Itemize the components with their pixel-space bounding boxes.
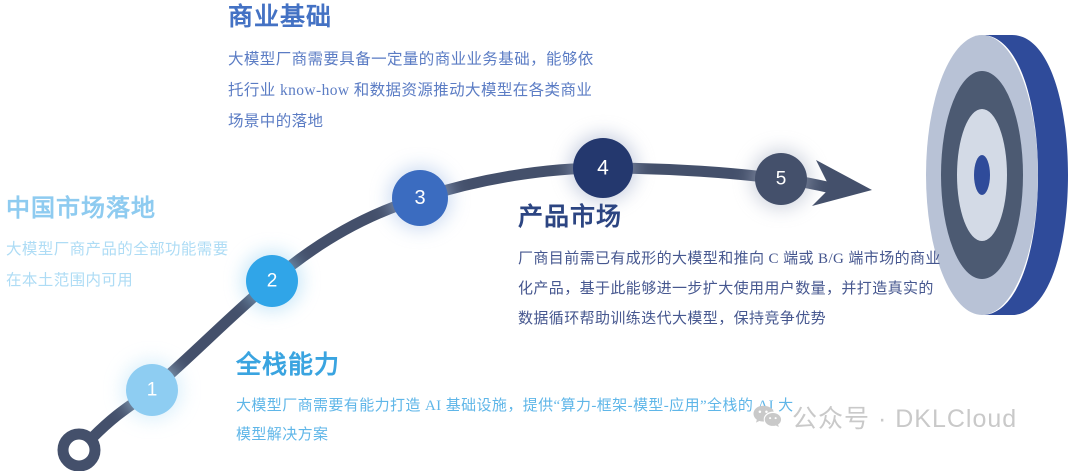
journey-start-marker <box>63 434 95 466</box>
watermark: 公众号 · DKLCloud <box>752 399 1017 435</box>
block-fullstack-capability-body: 大模型厂商需要有能力打造 AI 基础设施，提供“算力-框架-模型-应用”全栈的 … <box>236 392 796 451</box>
journey-node-2-label: 2 <box>267 271 278 292</box>
block-product-market-heading: 产品市场 <box>518 204 948 232</box>
block-product-market-body: 厂商目前需已有成形的大模型和推向 C 端或 B/G 端市场的商业化产品，基于此能… <box>518 244 948 334</box>
journey-node-5-label: 5 <box>776 169 787 190</box>
watermark-label: 公众号 · DKLCloud <box>792 399 1017 435</box>
block-china-market-heading: 中国市场落地 <box>6 196 238 222</box>
journey-node-1[interactable]: 1 <box>126 364 178 416</box>
wechat-icon <box>752 402 782 432</box>
journey-node-5[interactable]: 5 <box>755 153 807 205</box>
journey-node-4-label: 4 <box>597 157 609 180</box>
journey-node-3-label: 3 <box>414 187 425 209</box>
infographic-canvas: 1 2 3 4 5 <box>0 0 1080 471</box>
journey-node-4[interactable]: 4 <box>573 138 633 198</box>
block-product-market: 产品市场 厂商目前需已有成形的大模型和推向 C 端或 B/G 端市场的商业化产品… <box>518 204 948 334</box>
block-fullstack-capability: 全栈能力 大模型厂商需要有能力打造 AI 基础设施，提供“算力-框架-模型-应用… <box>236 352 796 450</box>
block-fullstack-capability-heading: 全栈能力 <box>236 352 796 380</box>
block-business-foundation-heading: 商业基础 <box>228 4 598 32</box>
block-china-market-body: 大模型厂商产品的全部功能需要在本土范围内可用 <box>6 234 238 296</box>
block-business-foundation: 商业基础 大模型厂商需要具备一定量的商业业务基础，能够依托行业 know-how… <box>228 4 598 137</box>
journey-node-3[interactable]: 3 <box>392 170 448 226</box>
block-china-market: 中国市场落地 大模型厂商产品的全部功能需要在本土范围内可用 <box>6 196 238 296</box>
journey-arrow-head <box>812 160 872 206</box>
journey-node-2[interactable]: 2 <box>246 255 298 307</box>
block-business-foundation-body: 大模型厂商需要具备一定量的商业业务基础，能够依托行业 know-how 和数据资… <box>228 44 598 137</box>
journey-node-1-label: 1 <box>147 380 158 401</box>
